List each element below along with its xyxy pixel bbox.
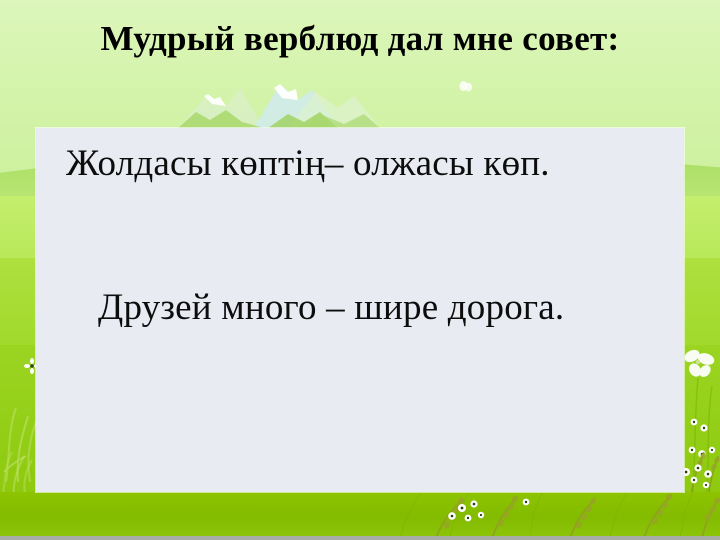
- mountain-range-icon: [168, 78, 388, 128]
- grass-tuft-icon: [0, 430, 36, 500]
- slide: Мудрый верблюд дал мне совет: Жолдасы кө…: [0, 0, 720, 540]
- footer-strip: [0, 536, 720, 540]
- proverb-line-kazakh: Жолдасы көптің– олжасы көп.: [66, 142, 550, 185]
- proverb-line-russian: Друзей много – шире дорога.: [98, 286, 564, 329]
- page-title: Мудрый верблюд дал мне совет:: [0, 19, 720, 59]
- butterfly-icon: [458, 80, 474, 96]
- content-box[interactable]: Жолдасы көптің– олжасы көп. Друзей много…: [36, 128, 684, 492]
